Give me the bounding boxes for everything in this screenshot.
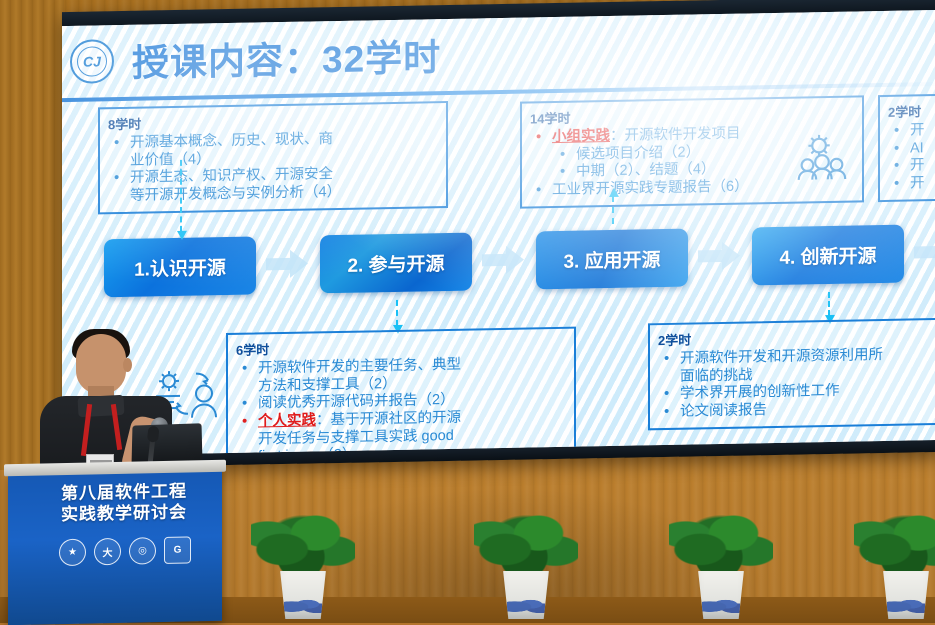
process-steps: 1.认识开源 2. 参与开源 3. 应用开源 4. 创新开源 <box>62 224 935 304</box>
bullet-list: 开 AI 开 开 <box>888 121 935 194</box>
highlight-text: 个人实践 <box>258 412 316 429</box>
list-item-rest: ：开源软件开发项目 <box>610 126 741 144</box>
bullet-list: 开源软件开发和开源资源利用所 面临的挑战 学术界开展的创新性工作 论文阅读报告 <box>658 346 935 422</box>
university-seal-logo-text: CJ <box>77 46 107 77</box>
page-title: 授课内容：32学时 <box>132 27 441 87</box>
presenter-ear <box>123 358 132 372</box>
presenter-head <box>76 334 126 394</box>
sponsor-logo-2: 大 <box>94 537 121 565</box>
right-arrow-icon <box>266 249 310 280</box>
box-heading: 2学时 <box>658 325 935 349</box>
connector-arrow-down-2 <box>396 300 398 326</box>
potted-plant-3 <box>666 503 776 623</box>
sponsor-logo-1: ★ <box>59 538 86 566</box>
list-item: 开 <box>888 156 935 176</box>
plant-foliage <box>474 505 578 579</box>
list-item: 开 <box>888 174 935 194</box>
process-step-3[interactable]: 3. 应用开源 <box>536 229 688 290</box>
process-step-4[interactable]: 4. 创新开源 <box>752 225 904 286</box>
plant-pot <box>880 571 932 619</box>
right-arrow-icon <box>914 237 935 268</box>
event-title: 第八届软件工程 实践教学研讨会 <box>36 480 212 526</box>
content-box-2-hours-top: 2学时 开 AI 开 开 <box>878 93 935 202</box>
slide-content: CJ 授课内容：32学时 8学时 开源基本概念、历史、现状、商 业价值（4） 开… <box>62 10 935 456</box>
plant-foliage <box>669 505 773 579</box>
university-seal-logo: CJ <box>70 39 114 84</box>
sponsor-logo-3: ◎ <box>129 537 156 565</box>
list-item: 开 <box>888 121 935 141</box>
list-item: AI <box>888 139 935 159</box>
sponsor-logos: ★ 大 ◎ G <box>52 534 198 567</box>
potted-plant-1 <box>248 503 358 623</box>
plant-foliage <box>251 505 355 579</box>
connector-arrow-up-3 <box>612 196 614 224</box>
plant-pot <box>500 571 552 619</box>
content-box-2-hours-bottom: 2学时 开源软件开发和开源资源利用所 面临的挑战 学术界开展的创新性工作 论文阅… <box>648 318 935 430</box>
bullet-list: 开源基本概念、历史、现状、商 业价值（4） 开源生态、知识产权、开源安全 等开源… <box>108 129 438 206</box>
connector-arrow-down-4 <box>828 292 830 316</box>
slide-header: CJ 授课内容：32学时 <box>62 16 935 96</box>
box-heading: 2学时 <box>888 100 935 121</box>
list-item-rest: ：基于开源社区的开源 <box>316 410 461 429</box>
highlight-text: 小组实践 <box>552 128 610 145</box>
right-arrow-icon <box>698 241 742 272</box>
process-step-2[interactable]: 2. 参与开源 <box>320 233 472 294</box>
podium-banner: 第八届软件工程 实践教学研讨会 ★ 大 ◎ G <box>8 468 222 625</box>
plant-pot <box>277 571 329 619</box>
potted-plant-4 <box>848 497 935 623</box>
gear-team-icon <box>790 132 852 183</box>
event-title-line-2: 实践教学研讨会 <box>36 501 212 526</box>
right-arrow-icon <box>482 245 526 276</box>
presentation-screen: CJ 授课内容：32学时 8学时 开源基本概念、历史、现状、商 业价值（4） 开… <box>62 0 935 468</box>
presenter-collar <box>78 395 125 417</box>
plant-foliage <box>854 505 935 579</box>
bullet-list: 开源软件开发的主要任务、典型 方法和支撑工具（2） 阅读优秀开源代码并报告（2）… <box>236 355 566 456</box>
plant-pot <box>695 571 747 619</box>
sponsor-logo-4: G <box>164 536 191 564</box>
content-box-6-hours: 6学时 开源软件开发的主要任务、典型 方法和支撑工具（2） 阅读优秀开源代码并报… <box>226 327 576 456</box>
potted-plant-2 <box>468 495 584 623</box>
process-step-1[interactable]: 1.认识开源 <box>104 237 256 298</box>
laptop <box>132 423 203 465</box>
content-box-8-hours: 8学时 开源基本概念、历史、现状、商 业价值（4） 开源生态、知识产权、开源安全… <box>98 101 448 214</box>
connector-arrow-down-1 <box>180 160 182 232</box>
